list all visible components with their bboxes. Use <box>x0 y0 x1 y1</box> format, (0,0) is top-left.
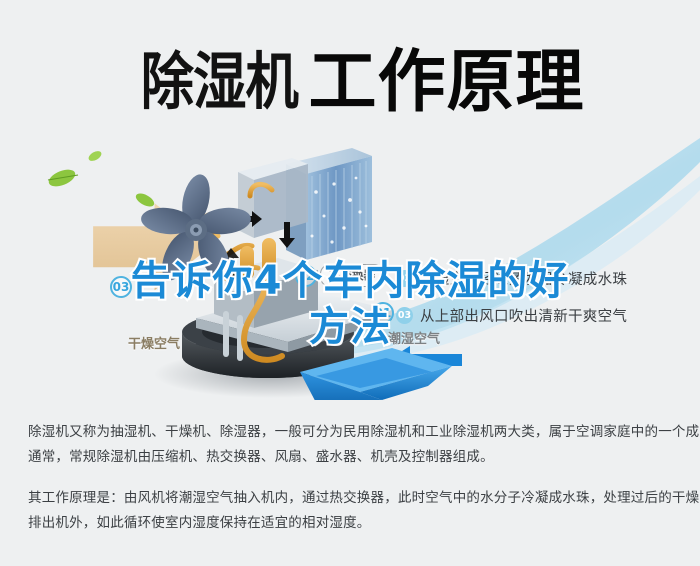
paragraph-2: 其工作原理是：由风机将潮湿空气抽入机内，通过热交换器，此时空气中的水分子冷凝成水… <box>28 486 678 536</box>
paragraph-1-line-2: 通常，常规除湿机由压缩机、热交换器、风扇、盛水器、机壳及控制器组成。 <box>28 445 678 470</box>
diagram-badge-01: 01 <box>372 302 394 324</box>
diagram-badge-03: 03 <box>110 276 132 298</box>
legend-list: 02 潮湿空气经过蒸发器冷凝成水珠 03 从上部出风口吹出清新干爽空气 <box>396 268 696 342</box>
legend-text-02: 潮湿空气经过蒸发器冷凝成水珠 <box>420 268 627 289</box>
page-title: 除湿机工作原理 <box>0 26 700 125</box>
legend-badge-03: 03 <box>396 307 413 324</box>
diagram-badge-02: 02 <box>295 265 317 287</box>
paragraph-1-line-1: 除湿机又称为抽湿机、干燥机、除湿器，一般可分为民用除湿机和工业除湿机两大类，属于… <box>28 420 678 445</box>
callout-heat-exchanger: 热交换器 <box>320 264 384 287</box>
page-root: 除湿机工作原理 <box>0 0 700 566</box>
legend-item-02: 02 潮湿空气经过蒸发器冷凝成水珠 <box>396 268 696 289</box>
page-title-part1: 除湿机 <box>141 31 298 121</box>
label-dry-air: 干燥空气 <box>128 333 180 352</box>
page-title-part2: 工作原理 <box>309 26 585 125</box>
legend-text-03: 从上部出风口吹出清新干爽空气 <box>420 305 627 326</box>
legend-item-03: 03 从上部出风口吹出清新干爽空气 <box>396 305 696 326</box>
legend-badge-02: 02 <box>396 270 413 287</box>
paragraph-2-line-1: 其工作原理是：由风机将潮湿空气抽入机内，通过热交换器，此时空气中的水分子冷凝成水… <box>28 486 678 511</box>
dehumidifier-diagram: 01 02 03 潮湿空气 干燥空气 热交换器 压缩机 水箱 <box>0 118 700 400</box>
paragraph-2-line-2: 排出机外，如此循环使室内湿度保持在适宜的相对湿度。 <box>28 511 678 536</box>
paragraph-1: 除湿机又称为抽湿机、干燥机、除湿器，一般可分为民用除湿机和工业除湿机两大类，属于… <box>28 420 678 470</box>
label-compressor: 压缩机 <box>260 399 289 400</box>
diagram-svg <box>0 118 700 400</box>
